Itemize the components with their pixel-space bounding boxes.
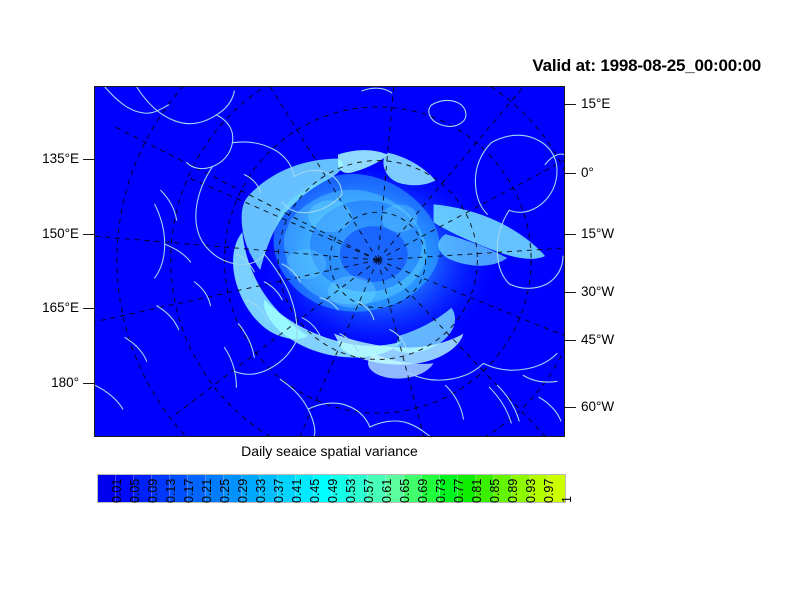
- axis-label-left-3: 180°: [5, 376, 79, 390]
- map-plot-area: [94, 86, 565, 437]
- page-title: Valid at: 1998-08-25_00:00:00: [0, 56, 761, 76]
- tick-mark-left: [83, 383, 94, 384]
- map-canvas: [95, 87, 564, 436]
- axis-label-right-3: 30°W: [581, 285, 614, 299]
- axis-label-right-4: 45°W: [581, 333, 614, 347]
- colorbar-tick-label: 0.21: [201, 479, 214, 503]
- tick-mark-right: [565, 173, 576, 174]
- colorbar-tick-label: 0.41: [291, 479, 304, 503]
- colorbar-tick-label: 0.37: [273, 479, 286, 503]
- axis-label-right-0: 15°E: [581, 97, 610, 111]
- colorbar-tick-label: 0.97: [543, 479, 556, 503]
- colorbar-tick-label: 0.81: [471, 479, 484, 503]
- tick-mark-right: [565, 234, 576, 235]
- colorbar-tick-label: 0.65: [399, 479, 412, 503]
- axis-label-left-2: 165°E: [5, 301, 79, 315]
- colorbar-tick-label: 0.69: [417, 479, 430, 503]
- map-caption: Daily seaice spatial variance: [94, 443, 565, 459]
- colorbar-tick-label: 0.09: [147, 479, 160, 503]
- tick-mark-left: [83, 159, 94, 160]
- colorbar-tick-label: 0.93: [525, 479, 538, 503]
- tick-mark-right: [565, 104, 576, 105]
- colorbar-tick-label: 0.77: [453, 479, 466, 503]
- tick-mark-left: [83, 234, 94, 235]
- axis-label-right-5: 60°W: [581, 400, 614, 414]
- colorbar-tick-label: 0.89: [507, 479, 520, 503]
- colorbar-tick-label: 0.61: [381, 479, 394, 503]
- colorbar-tick-label: 0.45: [309, 479, 322, 503]
- tick-mark-right: [565, 340, 576, 341]
- axis-label-left-0: 135°E: [5, 152, 79, 166]
- colorbar-tick-label: 0.73: [435, 479, 448, 503]
- tick-mark-right: [565, 292, 576, 293]
- colorbar-tick-label: 0.33: [255, 479, 268, 503]
- colorbar-tick-label: 0.17: [183, 479, 196, 503]
- colorbar-tick-labels: 0.010.050.090.130.170.210.250.290.330.37…: [97, 503, 566, 573]
- axis-label-right-1: 0°: [581, 166, 594, 180]
- colorbar-tick-label: 0.01: [111, 479, 124, 503]
- colorbar-tick-label: 0.05: [129, 479, 142, 503]
- colorbar-tick-label: 1: [561, 496, 574, 503]
- colorbar-tick-label: 0.29: [237, 479, 250, 503]
- axis-label-left-1: 150°E: [5, 227, 79, 241]
- colorbar-tick-label: 0.53: [345, 479, 358, 503]
- axis-label-right-2: 15°W: [581, 227, 614, 241]
- colorbar-tick-label: 0.13: [165, 479, 178, 503]
- tick-mark-right: [565, 407, 576, 408]
- tick-mark-left: [83, 308, 94, 309]
- colorbar-tick-label: 0.85: [489, 479, 502, 503]
- colorbar-tick-label: 0.49: [327, 479, 340, 503]
- colorbar-tick-label: 0.25: [219, 479, 232, 503]
- colorbar-tick-label: 0.57: [363, 479, 376, 503]
